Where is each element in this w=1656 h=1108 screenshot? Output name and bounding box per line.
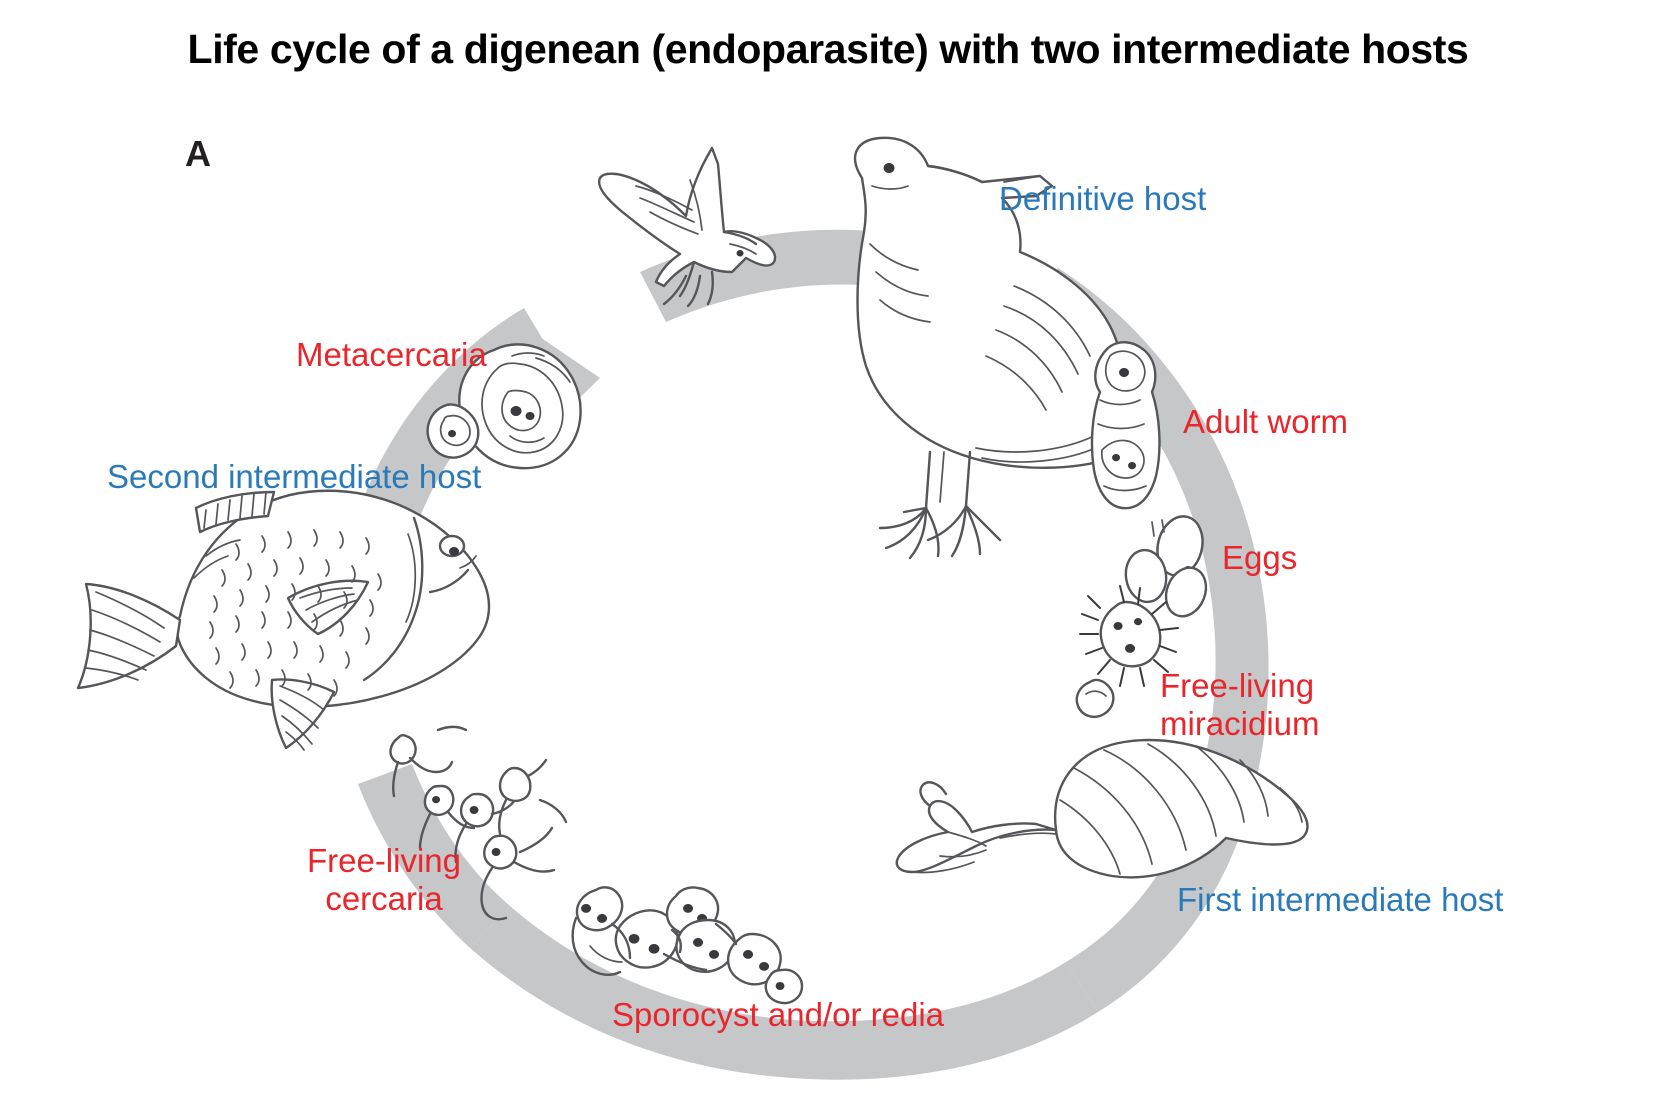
label-metacercaria: Metacercaria	[296, 336, 487, 374]
label-sporocyst-redia: Sporocyst and/or redia	[612, 996, 944, 1034]
label-definitive-host: Definitive host	[999, 180, 1206, 218]
adult-worm-drawing	[1092, 342, 1159, 508]
label-free-living-cercaria: Free-living cercaria	[288, 842, 480, 918]
figure-root: Life cycle of a digenean (endoparasite) …	[0, 0, 1656, 1108]
label-adult-worm: Adult worm	[1183, 403, 1348, 441]
label-second-intermediate-host: Second intermediate host	[107, 458, 481, 496]
life-cycle-illustration: .ink { fill:none; stroke:#55555a; stroke…	[0, 0, 1656, 1108]
label-eggs: Eggs	[1222, 539, 1297, 577]
fish-drawing	[78, 491, 489, 750]
label-free-living-miracidium: Free-living miracidium	[1160, 667, 1320, 743]
label-first-intermediate-host: First intermediate host	[1177, 881, 1503, 919]
